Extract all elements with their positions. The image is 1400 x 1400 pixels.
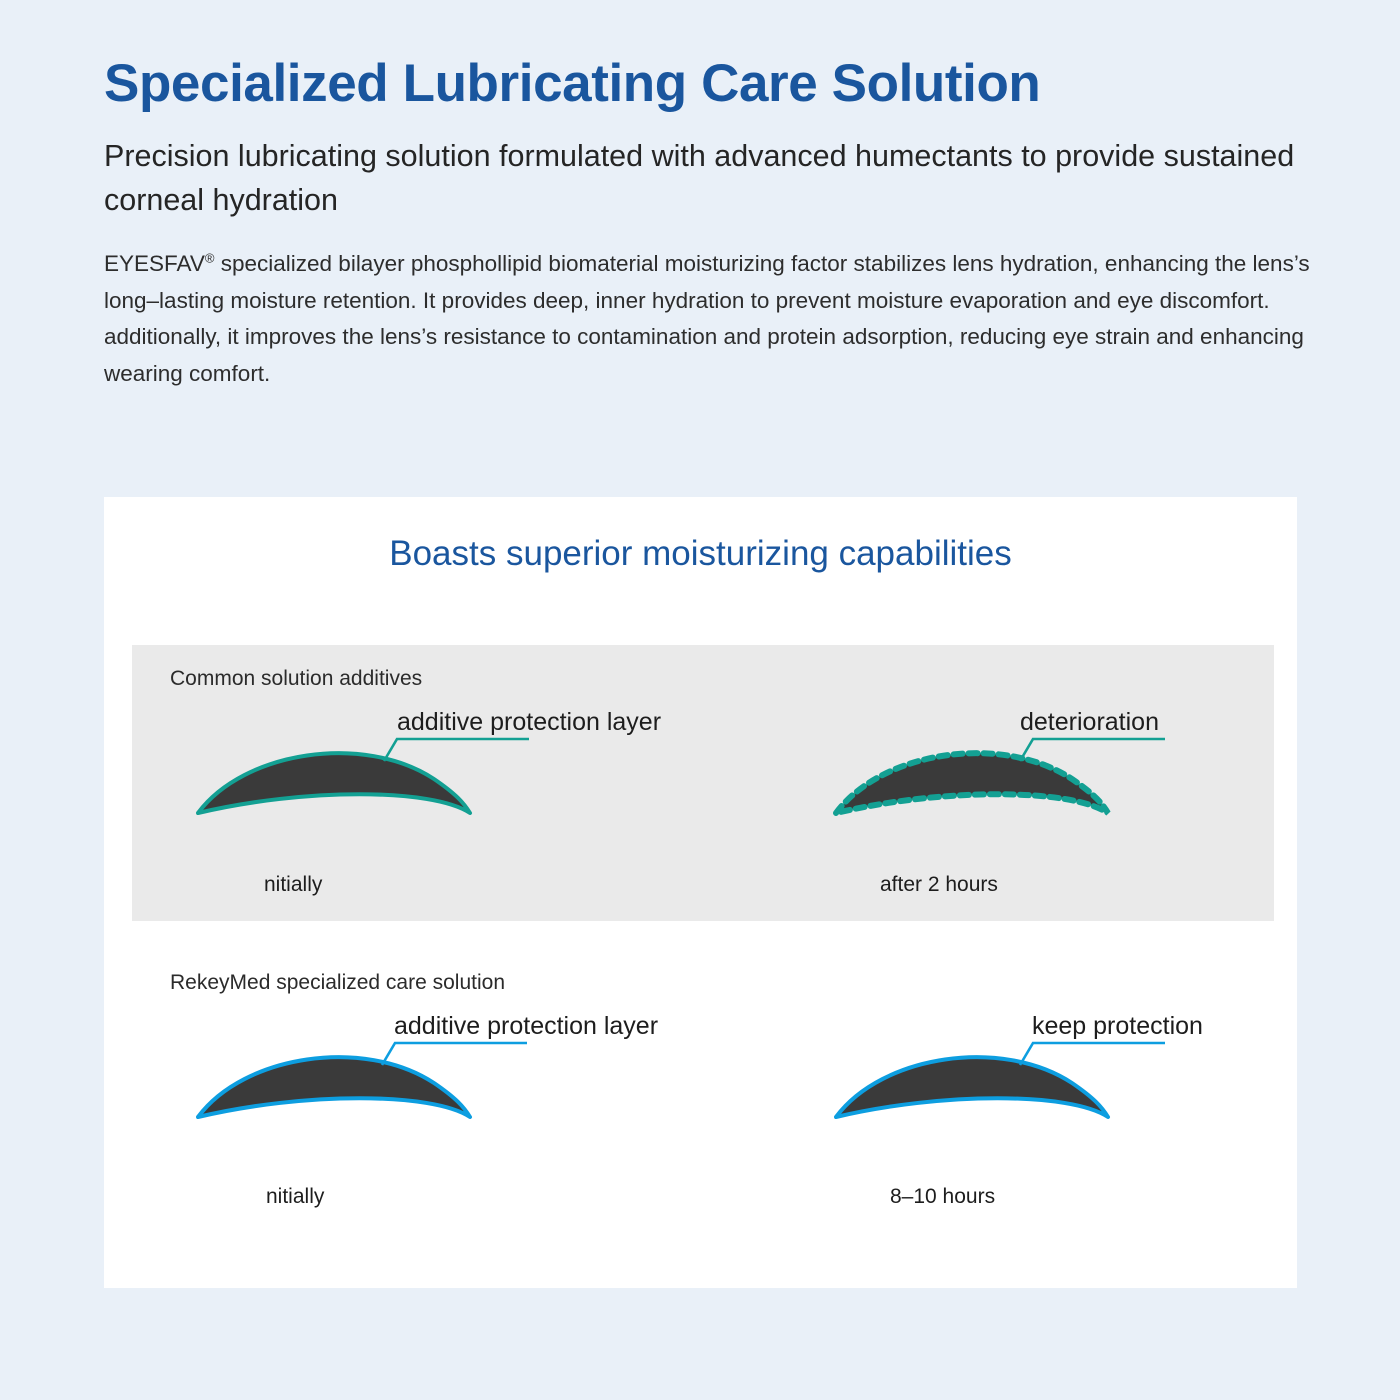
diagram-rekey-initial: additive protection layer nitially: [184, 1017, 614, 1207]
card-heading: Boasts superior moisturizing capabilitie…: [104, 534, 1297, 574]
page-body-text: specialized bilayer phosphollipid biomat…: [104, 251, 1310, 386]
panel-common-solution-additives: Common solution additives additive prote…: [132, 645, 1274, 921]
lens-illustration-rekey-protected: [822, 1017, 1252, 1207]
callout-label-deterioration: deterioration: [1020, 708, 1159, 737]
callout-leader-line: [1020, 739, 1165, 761]
lens-crescent-shape: [198, 1057, 470, 1117]
lens-illustration-common-initial: [184, 713, 614, 903]
callout-label-keep-protection: keep protection: [1032, 1012, 1203, 1041]
brand-name: EYESFAV: [104, 251, 205, 276]
lens-crescent-shape-dashed: [836, 753, 1108, 813]
page-header: Specialized Lubricating Care Solution Pr…: [104, 54, 1329, 393]
lens-crescent-shape: [836, 1057, 1108, 1117]
lens-illustration-rekey-initial: [184, 1017, 614, 1207]
page-title: Specialized Lubricating Care Solution: [104, 54, 1329, 113]
callout-leader-line: [1020, 1043, 1165, 1065]
callout-leader-line: [382, 1043, 527, 1065]
page-subtitle: Precision lubricating solution formulate…: [104, 135, 1329, 222]
panel-label-common: Common solution additives: [170, 667, 422, 691]
callout-label-additive-protection-layer: additive protection layer: [394, 1012, 658, 1041]
callout-leader-line: [384, 739, 529, 761]
caption-after-2-hours: after 2 hours: [880, 873, 998, 897]
page-body-paragraph: EYESFAV® specialized bilayer phosphollip…: [104, 246, 1319, 393]
lens-crescent-shape: [198, 753, 470, 813]
diagram-common-initial: additive protection layer nitially: [184, 713, 614, 903]
caption-rekey-initial: nitially: [266, 1185, 324, 1209]
panel-rekeymed-specialized-care-solution: RekeyMed specialized care solution addit…: [132, 949, 1274, 1249]
panel-label-rekeymed: RekeyMed specialized care solution: [170, 971, 505, 995]
callout-label-additive-protection-layer: additive protection layer: [397, 708, 661, 737]
caption-8-10-hours: 8–10 hours: [890, 1185, 995, 1209]
feature-card: Boasts superior moisturizing capabilitie…: [104, 497, 1297, 1288]
diagram-common-after-2-hours: deterioration after 2 hours: [822, 713, 1252, 903]
diagram-rekey-8-10-hours: keep protection 8–10 hours: [822, 1017, 1252, 1207]
caption-common-initial: nitially: [264, 873, 322, 897]
